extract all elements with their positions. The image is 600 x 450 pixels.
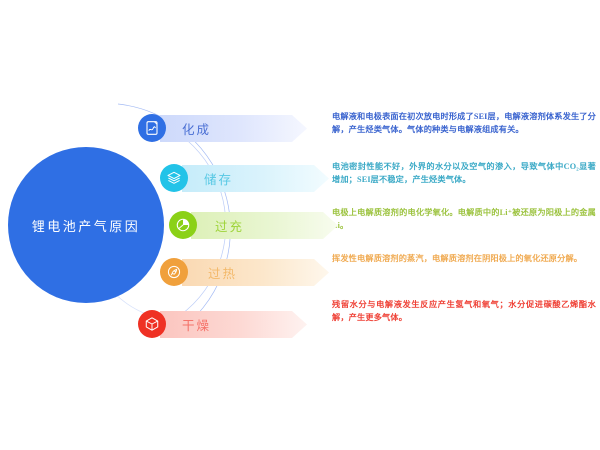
- description-3: 电极上电解质溶剂的电化学氧化。电解质中的Li⁺被还原为阳极上的金属Li。: [332, 206, 596, 233]
- flow-label-2: 储存: [204, 169, 233, 188]
- cube-box-icon: [144, 316, 160, 332]
- description-4: 挥发性电解质溶剂的蒸汽，电解质溶剂在阴阳极上的氧化还原分解。: [332, 252, 596, 265]
- center-node-label: 锂电池产气原因: [32, 216, 141, 235]
- flow-banner-3: [191, 212, 338, 239]
- flow-label-1: 化成: [182, 119, 211, 138]
- flow-badge-3[interactable]: [169, 211, 197, 239]
- flow-label-3: 过充: [215, 216, 244, 235]
- center-node[interactable]: 锂电池产气原因: [8, 147, 164, 303]
- flow-banner-4: [182, 259, 329, 286]
- flow-label-4: 过热: [208, 263, 237, 282]
- document-chart-icon: [144, 120, 160, 136]
- flow-badge-1[interactable]: [138, 114, 166, 142]
- pie-clock-icon: [175, 217, 191, 233]
- flow-badge-5[interactable]: [138, 310, 166, 338]
- infographic-canvas: 锂电池产气原因 化成: [0, 0, 600, 450]
- description-2: 电池密封性能不好，外界的水分以及空气的渗入，导致气体中CO₂显著增加；SEI层不…: [332, 160, 596, 187]
- description-5: 残留水分与电解液发生反应产生氢气和氧气；水分促进碳酸乙烯酯水解，产生更多气体。: [332, 298, 596, 325]
- flow-label-5: 干燥: [182, 315, 211, 334]
- description-1: 电解液和电极表面在初次放电时形成了SEI层，电解液溶剂体系发生了分解，产生烃类气…: [332, 110, 596, 137]
- layers-stack-icon: [166, 170, 182, 186]
- flow-badge-4[interactable]: [160, 258, 188, 286]
- rocket-gauge-icon: [166, 264, 182, 280]
- flow-badge-2[interactable]: [160, 164, 188, 192]
